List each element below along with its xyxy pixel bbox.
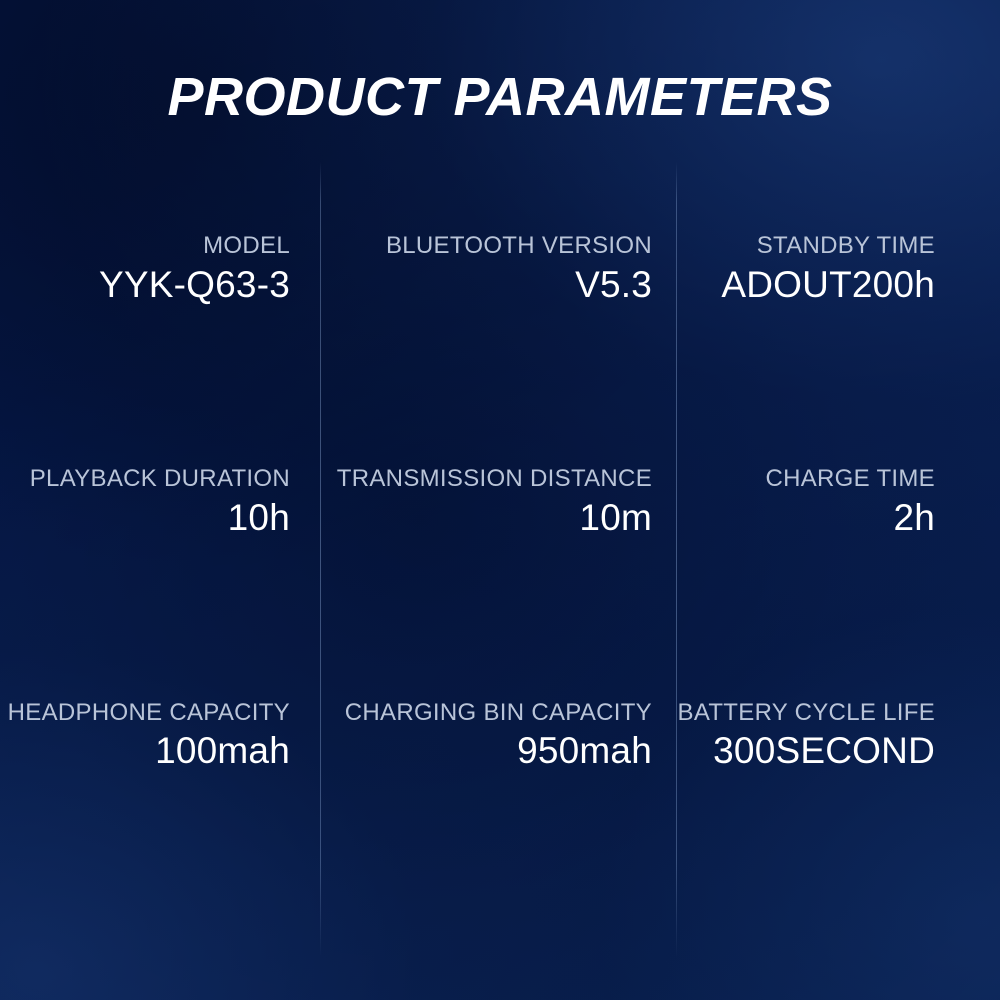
parameter-value: 10h: [228, 497, 290, 540]
parameter-cell: MODEL YYK-Q63-3: [0, 232, 320, 465]
parameter-value: V5.3: [575, 264, 652, 307]
parameter-cell: BATTERY CYCLE LIFE 300SECOND: [676, 699, 1000, 932]
parameter-label: TRANSMISSION DISTANCE: [337, 465, 652, 493]
parameter-value: 300SECOND: [713, 730, 935, 773]
parameter-label: MODEL: [203, 232, 290, 260]
parameter-label: CHARGE TIME: [765, 465, 935, 493]
parameter-value: 100mah: [155, 730, 290, 773]
parameter-value: YYK-Q63-3: [99, 264, 290, 307]
parameters-grid: MODEL YYK-Q63-3 BLUETOOTH VERSION V5.3 S…: [0, 232, 1000, 932]
parameter-cell: HEADPHONE CAPACITY 100mah: [0, 699, 320, 932]
parameter-label: PLAYBACK DURATION: [30, 465, 290, 493]
parameter-value: 950mah: [517, 730, 652, 773]
parameter-label: BLUETOOTH VERSION: [386, 232, 652, 260]
parameter-label: HEADPHONE CAPACITY: [8, 699, 290, 727]
parameter-label: BATTERY CYCLE LIFE: [678, 699, 935, 727]
parameter-cell: TRANSMISSION DISTANCE 10m: [320, 465, 676, 698]
parameter-label: CHARGING BIN CAPACITY: [345, 699, 652, 727]
parameter-cell: PLAYBACK DURATION 10h: [0, 465, 320, 698]
parameter-value: ADOUT200h: [721, 264, 935, 307]
parameter-cell: STANDBY TIME ADOUT200h: [676, 232, 1000, 465]
parameter-cell: CHARGE TIME 2h: [676, 465, 1000, 698]
page-title: PRODUCT PARAMETERS: [0, 66, 1000, 128]
parameter-value: 2h: [893, 497, 935, 540]
parameter-cell: CHARGING BIN CAPACITY 950mah: [320, 699, 676, 932]
product-parameters-page: PRODUCT PARAMETERS MODEL YYK-Q63-3 BLUET…: [0, 0, 1000, 1000]
parameter-label: STANDBY TIME: [757, 232, 935, 260]
parameter-cell: BLUETOOTH VERSION V5.3: [320, 232, 676, 465]
parameter-value: 10m: [579, 497, 652, 540]
